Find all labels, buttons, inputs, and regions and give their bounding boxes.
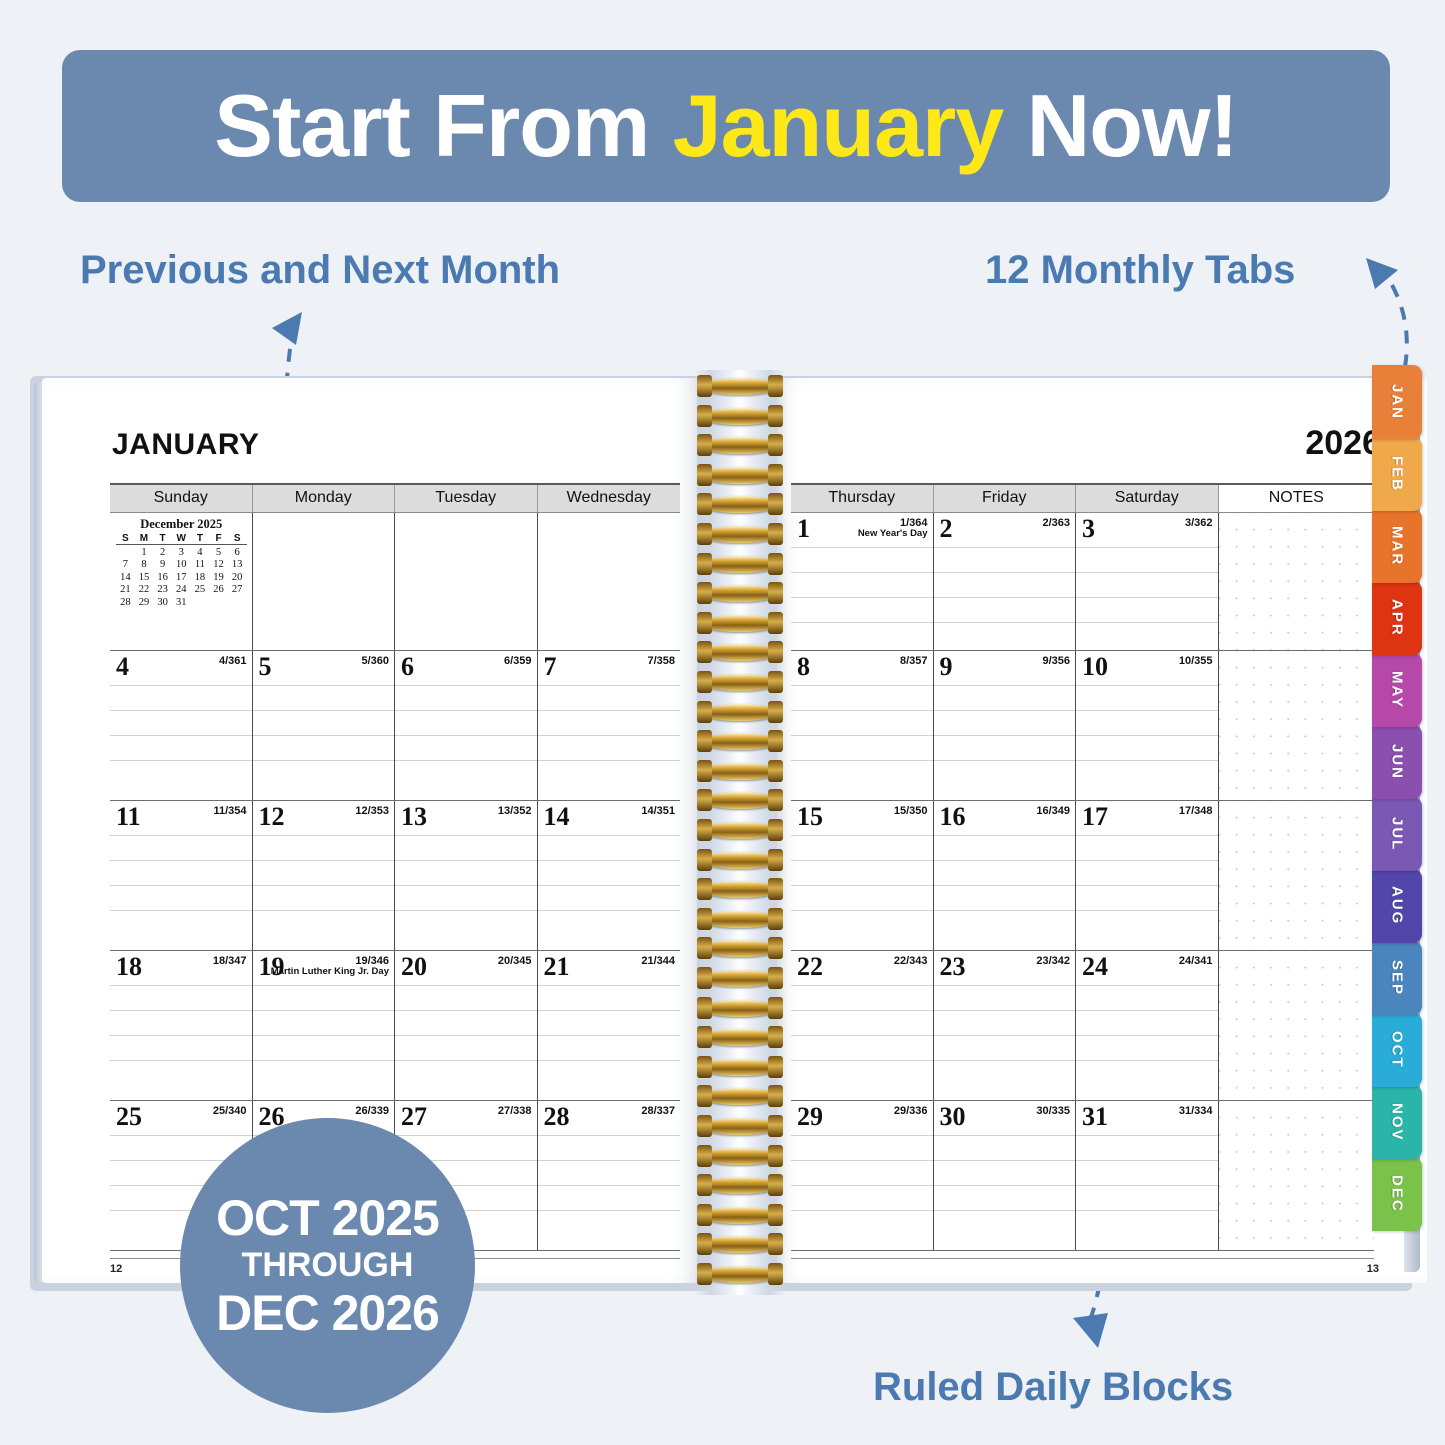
mini-calendar-day: 3 bbox=[172, 545, 191, 558]
day-cell[interactable]: 88/357 bbox=[791, 651, 934, 800]
day-number: 9 bbox=[940, 652, 953, 682]
mini-calendar-day: 8 bbox=[135, 558, 154, 571]
headline-text: Start From January Now! bbox=[214, 75, 1237, 177]
year-title: 2026 bbox=[1181, 424, 1381, 463]
day-number: 14 bbox=[544, 802, 570, 832]
day-of-year-fraction: 13/352 bbox=[498, 805, 532, 817]
mini-calendar-day: 20 bbox=[228, 570, 247, 583]
spiral-coil bbox=[702, 733, 778, 750]
month-tab-mar[interactable]: MAR bbox=[1372, 509, 1422, 583]
badge-line-2: THROUGH bbox=[242, 1244, 414, 1287]
spiral-coil bbox=[702, 1148, 778, 1165]
ruled-lines bbox=[791, 985, 933, 1100]
month-tab-sep[interactable]: SEP bbox=[1372, 941, 1422, 1015]
month-tab-label: APR bbox=[1389, 599, 1406, 637]
rule-line bbox=[791, 760, 933, 761]
rule-line bbox=[538, 1210, 681, 1211]
ruled-lines bbox=[1076, 685, 1218, 800]
rule-line bbox=[538, 1135, 681, 1136]
rule-line bbox=[1076, 910, 1218, 911]
rule-line bbox=[791, 622, 933, 623]
rule-line bbox=[934, 1185, 1076, 1186]
rule-line bbox=[538, 685, 681, 686]
month-tab-label: MAY bbox=[1389, 671, 1406, 709]
rule-line bbox=[934, 735, 1076, 736]
spiral-coil bbox=[702, 556, 778, 573]
rule-line bbox=[110, 760, 252, 761]
mini-calendar-day: 23 bbox=[153, 583, 172, 596]
spiral-coil bbox=[702, 467, 778, 484]
spiral-coil bbox=[702, 1000, 778, 1017]
ruled-lines bbox=[934, 985, 1076, 1100]
ruled-lines bbox=[110, 835, 252, 950]
rule-line bbox=[934, 1210, 1076, 1211]
day-number: 6 bbox=[401, 652, 414, 682]
rule-line bbox=[1076, 860, 1218, 861]
spiral-coil bbox=[702, 1029, 778, 1046]
weekday-header-saturday: Saturday bbox=[1076, 485, 1219, 512]
spiral-coil bbox=[702, 1236, 778, 1253]
mini-calendar-day: 14 bbox=[116, 570, 135, 583]
notes-dot-grid bbox=[1219, 1101, 1375, 1250]
rule-line bbox=[110, 1035, 252, 1036]
mini-calendar-dow: S bbox=[228, 533, 247, 545]
month-tab-jul[interactable]: JUL bbox=[1372, 797, 1422, 871]
notes-dot-grid bbox=[1219, 801, 1375, 950]
day-cell[interactable] bbox=[253, 513, 396, 650]
day-cell[interactable]: 33/362 bbox=[1076, 513, 1219, 650]
day-of-year-fraction: 4/361 bbox=[219, 655, 247, 667]
mini-calendar-week: 28293031 bbox=[116, 595, 247, 608]
day-number: 4 bbox=[116, 652, 129, 682]
rule-line bbox=[791, 572, 933, 573]
rule-line bbox=[1076, 735, 1218, 736]
day-of-year-fraction: 7/358 bbox=[647, 655, 675, 667]
day-cell[interactable] bbox=[538, 513, 681, 650]
mini-calendar-title: December 2025 bbox=[116, 517, 247, 532]
calendar-week-row: 88/35799/3561010/355 bbox=[791, 651, 1374, 801]
holiday-label: New Year's Day bbox=[858, 529, 928, 540]
mini-calendar-table: SMTWTFS123456789101112131415161718192021… bbox=[116, 533, 247, 608]
month-tab-label: AUG bbox=[1389, 886, 1406, 925]
rule-line bbox=[1076, 760, 1218, 761]
mini-calendar-week: 14151617181920 bbox=[116, 570, 247, 583]
mini-calendar-day: 12 bbox=[209, 558, 228, 571]
day-cell[interactable]: 2121/344 bbox=[538, 951, 681, 1100]
rule-line bbox=[395, 710, 537, 711]
ruled-lines bbox=[1076, 547, 1218, 650]
rule-line bbox=[934, 985, 1076, 986]
mini-calendar-day: 6 bbox=[228, 545, 247, 558]
notes-cell[interactable] bbox=[1219, 651, 1375, 800]
month-tab-aug[interactable]: AUG bbox=[1372, 869, 1422, 943]
rule-line bbox=[1076, 985, 1218, 986]
month-tab-apr[interactable]: APR bbox=[1372, 581, 1422, 655]
ruled-lines bbox=[395, 835, 537, 950]
day-cell[interactable]: 2222/343 bbox=[791, 951, 934, 1100]
rule-line bbox=[934, 1060, 1076, 1061]
rule-line bbox=[110, 735, 252, 736]
day-of-year-fraction: 31/334 bbox=[1179, 1105, 1213, 1117]
spiral-coil bbox=[702, 1177, 778, 1194]
calendar-week-row: December 2025SMTWTFS12345678910111213141… bbox=[110, 513, 680, 651]
mini-calendar-day: 10 bbox=[172, 558, 191, 571]
month-tab-oct[interactable]: OCT bbox=[1372, 1013, 1422, 1087]
planner-page-right: 2026 ThursdayFridaySaturdayNOTES11/364Ne… bbox=[777, 378, 1427, 1283]
month-tab-dec[interactable]: DEC bbox=[1372, 1157, 1422, 1231]
mini-calendar-day: 31 bbox=[172, 595, 191, 608]
rule-line bbox=[934, 622, 1076, 623]
mini-calendar-prev-month: December 2025SMTWTFS12345678910111213141… bbox=[110, 517, 253, 650]
rule-line bbox=[110, 1135, 252, 1136]
day-number: 1 bbox=[797, 514, 810, 544]
day-number: 23 bbox=[940, 952, 966, 982]
rule-line bbox=[1076, 597, 1218, 598]
mini-calendar-day: 19 bbox=[209, 570, 228, 583]
annotation-monthly-tabs: 12 Monthly Tabs bbox=[985, 248, 1295, 293]
rule-line bbox=[110, 710, 252, 711]
rule-line bbox=[1076, 1160, 1218, 1161]
calendar-week-row: 1515/3501616/3491717/348 bbox=[791, 801, 1374, 951]
day-number: 22 bbox=[797, 952, 823, 982]
day-cell[interactable]: 1313/352 bbox=[395, 801, 538, 950]
ruled-lines bbox=[934, 685, 1076, 800]
day-number: 13 bbox=[401, 802, 427, 832]
rule-line bbox=[934, 1135, 1076, 1136]
month-tab-label: MAR bbox=[1389, 526, 1406, 566]
rule-line bbox=[934, 860, 1076, 861]
day-cell[interactable]: 3030/335 bbox=[934, 1101, 1077, 1250]
spiral-coil bbox=[702, 852, 778, 869]
rule-line bbox=[538, 910, 681, 911]
day-of-year-fraction: 21/344 bbox=[641, 955, 675, 967]
ruled-lines bbox=[934, 1135, 1076, 1250]
day-cell[interactable]: 1717/348 bbox=[1076, 801, 1219, 950]
day-cell[interactable]: 99/356 bbox=[934, 651, 1077, 800]
rule-line bbox=[538, 760, 681, 761]
mini-calendar-day: 13 bbox=[228, 558, 247, 571]
day-cell[interactable]: 2929/336 bbox=[791, 1101, 934, 1250]
rule-line bbox=[791, 1010, 933, 1011]
rule-line bbox=[791, 860, 933, 861]
rule-line bbox=[395, 1135, 537, 1136]
mini-calendar-day: 5 bbox=[209, 545, 228, 558]
day-cell[interactable]: 1414/351 bbox=[538, 801, 681, 950]
ruled-lines bbox=[1076, 835, 1218, 950]
mini-calendar-day: 15 bbox=[135, 570, 154, 583]
rule-line bbox=[791, 710, 933, 711]
day-number: 21 bbox=[544, 952, 570, 982]
spiral-coil bbox=[702, 763, 778, 780]
day-cell[interactable]: 2424/341 bbox=[1076, 951, 1219, 1100]
ruled-lines bbox=[538, 685, 681, 800]
rule-line bbox=[1076, 547, 1218, 548]
rule-line bbox=[253, 985, 395, 986]
month-tab-feb[interactable]: FEB bbox=[1372, 437, 1422, 511]
weekday-header-friday: Friday bbox=[934, 485, 1077, 512]
spiral-coil bbox=[702, 970, 778, 987]
rule-line bbox=[395, 910, 537, 911]
spiral-binding bbox=[694, 370, 786, 1295]
spiral-coil bbox=[702, 674, 778, 691]
rule-line bbox=[791, 597, 933, 598]
rule-line bbox=[1076, 572, 1218, 573]
spiral-coil bbox=[702, 437, 778, 454]
mini-calendar-day bbox=[191, 595, 210, 608]
day-cell[interactable]: 66/359 bbox=[395, 651, 538, 800]
page-number-left: 12 bbox=[110, 1263, 122, 1275]
ruled-lines bbox=[538, 985, 681, 1100]
mini-calendar-day: 26 bbox=[209, 583, 228, 596]
month-tab-jan[interactable]: JAN bbox=[1372, 365, 1422, 439]
rule-line bbox=[253, 710, 395, 711]
day-cell[interactable]: 44/361 bbox=[110, 651, 253, 800]
ruled-lines bbox=[253, 985, 395, 1100]
day-of-year-fraction: 28/337 bbox=[641, 1105, 675, 1117]
mini-calendar-day: 27 bbox=[228, 583, 247, 596]
rule-line bbox=[791, 835, 933, 836]
rule-line bbox=[395, 885, 537, 886]
day-number: 31 bbox=[1082, 1102, 1108, 1132]
notes-dot-grid bbox=[1219, 513, 1375, 650]
headline-part-2: Now! bbox=[1003, 76, 1238, 175]
rule-line bbox=[110, 885, 252, 886]
badge-line-3: DEC 2026 bbox=[216, 1287, 439, 1340]
rule-line bbox=[1076, 622, 1218, 623]
ruled-lines bbox=[253, 685, 395, 800]
rule-line bbox=[1076, 835, 1218, 836]
notes-cell[interactable] bbox=[1219, 1101, 1375, 1250]
spiral-coil bbox=[702, 704, 778, 721]
rule-line bbox=[934, 685, 1076, 686]
rule-line bbox=[538, 735, 681, 736]
rule-line bbox=[395, 760, 537, 761]
rule-line bbox=[395, 1035, 537, 1036]
rule-line bbox=[934, 910, 1076, 911]
day-cell[interactable]: 77/358 bbox=[538, 651, 681, 800]
rule-line bbox=[538, 985, 681, 986]
day-cell[interactable]: 1515/350 bbox=[791, 801, 934, 950]
day-number: 30 bbox=[940, 1102, 966, 1132]
spiral-coil bbox=[702, 1118, 778, 1135]
mini-calendar-dow: W bbox=[172, 533, 191, 545]
mini-calendar-day: 9 bbox=[153, 558, 172, 571]
ruled-lines bbox=[934, 835, 1076, 950]
mini-calendar-dow: F bbox=[209, 533, 228, 545]
day-cell[interactable]: 22/363 bbox=[934, 513, 1077, 650]
weekday-header-sunday: Sunday bbox=[110, 485, 253, 512]
day-number: 20 bbox=[401, 952, 427, 982]
rule-line bbox=[538, 860, 681, 861]
spiral-coil bbox=[702, 496, 778, 513]
mini-calendar-day bbox=[228, 595, 247, 608]
day-cell[interactable]: 2828/337 bbox=[538, 1101, 681, 1250]
mini-calendar-day: 17 bbox=[172, 570, 191, 583]
day-of-year-fraction: 15/350 bbox=[894, 805, 928, 817]
calendar-week-row: 1111/3541212/3531313/3521414/351 bbox=[110, 801, 680, 951]
rule-line bbox=[934, 760, 1076, 761]
mini-calendar-day: 30 bbox=[153, 595, 172, 608]
monthly-tab-strip[interactable]: JANFEBMARAPRMAYJUNJULAUGSEPOCTNOVDEC bbox=[1372, 365, 1422, 1229]
rule-line bbox=[538, 1010, 681, 1011]
date-range-badge: OCT 2025 THROUGH DEC 2026 bbox=[180, 1118, 475, 1413]
day-cell[interactable]: 1919/346Martin Luther King Jr. Day bbox=[253, 951, 396, 1100]
rule-line bbox=[791, 985, 933, 986]
day-of-year-fraction: 18/347 bbox=[213, 955, 247, 967]
arrow-head-tabs bbox=[1366, 258, 1398, 289]
headline-banner: Start From January Now! bbox=[62, 50, 1390, 202]
notes-cell[interactable] bbox=[1219, 513, 1375, 650]
day-of-year-fraction: 26/339 bbox=[355, 1105, 389, 1117]
spiral-coil bbox=[702, 1207, 778, 1224]
rule-line bbox=[110, 685, 252, 686]
weekday-header-thursday: Thursday bbox=[791, 485, 934, 512]
day-cell[interactable]: 11/364New Year's Day bbox=[791, 513, 934, 650]
day-number: 27 bbox=[401, 1102, 427, 1132]
rule-line bbox=[934, 1035, 1076, 1036]
day-cell[interactable]: December 2025SMTWTFS12345678910111213141… bbox=[110, 513, 253, 650]
day-of-year-fraction: 16/349 bbox=[1036, 805, 1070, 817]
month-tab-label: JUL bbox=[1389, 817, 1406, 851]
spiral-coil bbox=[702, 792, 778, 809]
month-tab-jun[interactable]: JUN bbox=[1372, 725, 1422, 799]
day-cell[interactable]: 3131/334 bbox=[1076, 1101, 1219, 1250]
headline-highlight: January bbox=[673, 76, 1004, 175]
mini-calendar-dow: S bbox=[116, 533, 135, 545]
rule-line bbox=[253, 1035, 395, 1036]
day-number: 29 bbox=[797, 1102, 823, 1132]
rule-line bbox=[1076, 1035, 1218, 1036]
mini-calendar-day: 16 bbox=[153, 570, 172, 583]
rule-line bbox=[253, 760, 395, 761]
rule-line bbox=[110, 910, 252, 911]
rule-line bbox=[253, 685, 395, 686]
mini-calendar-week: 21222324252627 bbox=[116, 583, 247, 596]
day-number: 2 bbox=[940, 514, 953, 544]
day-of-year-fraction: 1/364New Year's Day bbox=[858, 517, 928, 540]
rule-line bbox=[934, 597, 1076, 598]
ruled-lines bbox=[110, 685, 252, 800]
notes-column-header: NOTES bbox=[1219, 485, 1375, 512]
rule-line bbox=[791, 1135, 933, 1136]
day-of-year-fraction: 25/340 bbox=[213, 1105, 247, 1117]
rule-line bbox=[1076, 1060, 1218, 1061]
mini-calendar-day: 1 bbox=[135, 545, 154, 558]
rule-line bbox=[538, 885, 681, 886]
day-number: 28 bbox=[544, 1102, 570, 1132]
day-cell[interactable]: 1010/355 bbox=[1076, 651, 1219, 800]
month-title: JANUARY bbox=[112, 428, 259, 462]
calendar-week-row: 2222/3432323/3422424/341 bbox=[791, 951, 1374, 1101]
rule-line bbox=[791, 1035, 933, 1036]
mini-calendar-dow: T bbox=[153, 533, 172, 545]
rule-line bbox=[1076, 1185, 1218, 1186]
ruled-lines bbox=[791, 547, 933, 650]
mini-calendar-week: 78910111213 bbox=[116, 558, 247, 571]
day-of-year-fraction: 22/343 bbox=[894, 955, 928, 967]
rule-line bbox=[934, 710, 1076, 711]
rule-line bbox=[1076, 1135, 1218, 1136]
day-cell[interactable]: 55/360 bbox=[253, 651, 396, 800]
ruled-lines bbox=[253, 835, 395, 950]
rule-line bbox=[253, 885, 395, 886]
rule-line bbox=[934, 1160, 1076, 1161]
rule-line bbox=[934, 835, 1076, 836]
day-cell[interactable]: 1212/353 bbox=[253, 801, 396, 950]
day-cell[interactable] bbox=[395, 513, 538, 650]
month-tab-label: JUN bbox=[1389, 744, 1406, 780]
arrow-head-prev-month bbox=[272, 312, 302, 345]
weekday-header-tuesday: Tuesday bbox=[395, 485, 538, 512]
rule-line bbox=[395, 860, 537, 861]
mini-calendar-day: 21 bbox=[116, 583, 135, 596]
calendar-grid-right: ThursdayFridaySaturdayNOTES11/364New Yea… bbox=[791, 483, 1374, 1251]
calendar-week-row: 11/364New Year's Day22/36333/362 bbox=[791, 513, 1374, 651]
mini-calendar-day: 29 bbox=[135, 595, 154, 608]
rule-line bbox=[538, 1035, 681, 1036]
day-number: 25 bbox=[116, 1102, 142, 1132]
rule-line bbox=[110, 1060, 252, 1061]
page-footer-rule-right bbox=[791, 1258, 1374, 1259]
rule-line bbox=[791, 885, 933, 886]
rule-line bbox=[110, 985, 252, 986]
rule-line bbox=[538, 710, 681, 711]
month-tab-nov[interactable]: NOV bbox=[1372, 1085, 1422, 1159]
notes-dot-grid bbox=[1219, 951, 1375, 1100]
rule-line bbox=[538, 1185, 681, 1186]
notes-cell[interactable] bbox=[1219, 801, 1375, 950]
rule-line bbox=[253, 735, 395, 736]
rule-line bbox=[791, 685, 933, 686]
day-cell[interactable]: 1111/354 bbox=[110, 801, 253, 950]
ruled-lines bbox=[538, 1135, 681, 1250]
rule-line bbox=[791, 1185, 933, 1186]
day-number: 16 bbox=[940, 802, 966, 832]
mini-calendar-week: 123456 bbox=[116, 545, 247, 558]
spiral-coil bbox=[702, 1088, 778, 1105]
rule-line bbox=[253, 1060, 395, 1061]
mini-calendar-dow: T bbox=[191, 533, 210, 545]
rule-line bbox=[538, 835, 681, 836]
day-cell[interactable]: 1616/349 bbox=[934, 801, 1077, 950]
spiral-coil bbox=[702, 1266, 778, 1283]
day-number: 17 bbox=[1082, 802, 1108, 832]
rule-line bbox=[791, 1160, 933, 1161]
rule-line bbox=[253, 860, 395, 861]
annotation-previous-next-month: Previous and Next Month bbox=[80, 248, 560, 293]
rule-line bbox=[791, 1060, 933, 1061]
day-cell[interactable]: 2020/345 bbox=[395, 951, 538, 1100]
notes-cell[interactable] bbox=[1219, 951, 1375, 1100]
day-of-year-fraction: 8/357 bbox=[900, 655, 928, 667]
holiday-label: Martin Luther King Jr. Day bbox=[271, 967, 389, 978]
ruled-lines bbox=[538, 835, 681, 950]
month-tab-may[interactable]: MAY bbox=[1372, 653, 1422, 727]
mini-calendar-day: 25 bbox=[191, 583, 210, 596]
rule-line bbox=[395, 735, 537, 736]
mini-calendar-day bbox=[209, 595, 228, 608]
rule-line bbox=[538, 1160, 681, 1161]
rule-line bbox=[791, 547, 933, 548]
day-cell[interactable]: 2323/342 bbox=[934, 951, 1077, 1100]
ruled-lines bbox=[1076, 1135, 1218, 1250]
day-of-year-fraction: 5/360 bbox=[361, 655, 389, 667]
rule-line bbox=[791, 910, 933, 911]
day-cell[interactable]: 1818/347 bbox=[110, 951, 253, 1100]
rule-line bbox=[395, 685, 537, 686]
mini-calendar-day: 4 bbox=[191, 545, 210, 558]
day-number: 7 bbox=[544, 652, 557, 682]
